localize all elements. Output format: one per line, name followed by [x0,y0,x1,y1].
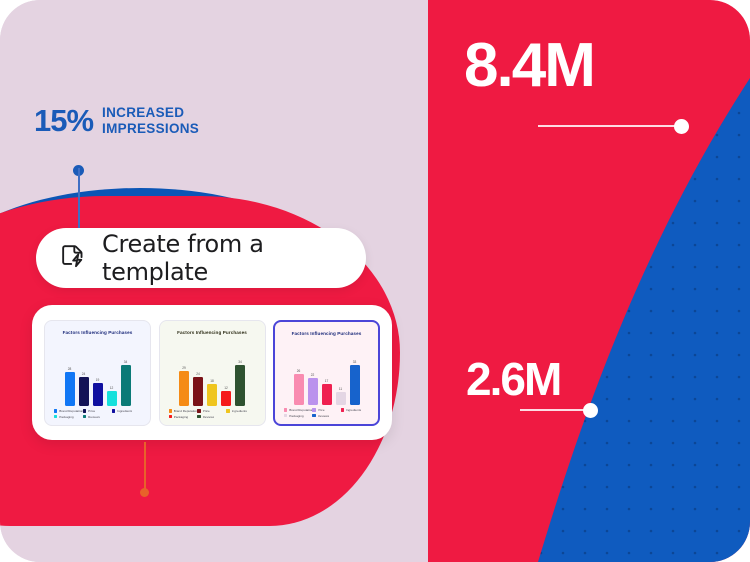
legend-label: Price [88,409,95,413]
chart-bar [107,391,117,406]
chart-bar-group: 26 [294,338,304,406]
chart-bar-group: 24 [79,337,89,407]
legend-label: Reviews [203,415,215,419]
legend-label: Ingredients [346,408,361,412]
legend-label: Brand Reputation [289,408,312,412]
stat-label: INCREASED IMPRESSIONS [102,105,199,136]
gallery-connector-dot [140,488,149,497]
legend-swatch [197,415,200,418]
chart-legend-item: Packaging [54,415,83,419]
template-card-title: Factors Influencing Purchases [50,330,145,335]
chart-legend-item: Brand Reputation [54,409,83,413]
chart-bar [93,383,103,406]
chart-bar-value: 24 [196,372,200,376]
legend-label: Packaging [289,414,303,418]
template-card[interactable]: Factors Influencing Purchases2924181234B… [159,320,266,426]
template-card-title: Factors Influencing Purchases [165,330,260,335]
chart-bar-value: 17 [325,379,329,383]
legend-label: Ingredients [232,409,247,413]
chart-legend-item: Packaging [169,415,198,419]
chart-bar-group: 34 [121,337,131,407]
chart-bar-group: 17 [322,338,332,406]
create-from-template-label: Create from a template [102,230,344,286]
legend-swatch [284,408,287,411]
template-card[interactable]: Factors Influencing Purchases2622171133B… [273,320,380,426]
legend-swatch [54,409,57,412]
chart-legend: Brand ReputationPriceIngredientsPackagin… [280,408,373,420]
stat-label-line2: IMPRESSIONS [102,121,199,137]
chart-bar [294,374,304,405]
chart-bar [193,377,203,406]
template-card-title: Factors Influencing Purchases [280,331,373,336]
legend-swatch [169,409,172,412]
legend-label: Price [203,409,210,413]
legend-swatch [112,409,115,412]
chart-legend-item: Price [83,409,112,413]
chart-bar [235,365,245,406]
legend-swatch [83,415,86,418]
chart-bar [121,365,131,406]
chart-legend-item: Reviews [83,415,112,419]
chart-bar-group: 11 [336,338,346,406]
template-card[interactable]: Factors Influencing Purchases2824191234B… [44,320,151,426]
create-from-template-button[interactable]: Create from a template [36,228,366,288]
chart-legend-item: Reviews [312,414,340,418]
chart-bar-group: 29 [179,337,189,407]
chart-legend-item: Reviews [197,415,226,419]
chart-bar-value: 33 [353,360,357,364]
legend-swatch [197,409,200,412]
stat-label-line1: INCREASED [102,105,199,121]
template-gallery: Factors Influencing Purchases2824191234B… [32,305,392,440]
legend-swatch [169,415,172,418]
chart-bar-value: 28 [68,367,72,371]
template-card-chart: 2622171133 [280,338,373,409]
legend-label: Ingredients [117,409,132,413]
chart-bar-value: 12 [110,386,114,390]
infographic-root: 15% INCREASED IMPRESSIONS Create from a … [0,0,750,562]
chart-legend-item: Ingredients [341,408,369,412]
legend-swatch [54,415,57,418]
metric-top-value: 8.4M [464,30,594,101]
legend-label: Packaging [59,415,73,419]
chart-bar-group: 22 [308,338,318,406]
legend-label: Price [318,408,325,412]
chart-bar-value: 22 [311,373,315,377]
chart-bar-value: 34 [238,360,242,364]
gallery-connector-line [144,442,146,490]
chart-bar-group: 28 [65,337,75,407]
chart-bar [65,372,75,406]
chart-legend-item: Brand Reputation [169,409,198,413]
chart-bar-group: 12 [221,337,231,407]
chart-bar-value: 26 [297,369,301,373]
chart-bar-group: 19 [93,337,103,407]
chart-bar [308,378,318,405]
chart-bar-value: 19 [96,378,100,382]
chart-legend-item: Price [197,409,226,413]
chart-bar-value: 29 [182,366,186,370]
metric-bottom-leader-line [520,409,590,411]
chart-bar-group: 24 [193,337,203,407]
stat-percent: 15% [34,105,93,136]
legend-label: Reviews [88,415,100,419]
metric-top-leader-line [538,125,678,127]
chart-legend-item: Packaging [284,414,312,418]
chart-legend-item: Price [312,408,340,412]
legend-swatch [341,408,344,411]
chart-bar [336,392,346,405]
right-panel: 8.4M 2.6M [428,0,750,562]
chart-bar-group: 12 [107,337,117,407]
chart-bar [322,384,332,405]
chart-bar-group: 34 [235,337,245,407]
chart-legend-item: Brand Reputation [284,408,312,412]
chart-bar [221,391,231,406]
chart-bar [207,384,217,406]
chart-legend-item: Ingredients [226,409,255,413]
template-lightning-icon [58,241,88,276]
chart-bar [350,365,360,405]
template-card-chart: 2924181234 [165,337,260,410]
legend-swatch [83,409,86,412]
legend-swatch [312,408,315,411]
legend-label: Packaging [174,415,188,419]
chart-bar-value: 11 [339,387,342,391]
chart-bar-value: 24 [82,372,86,376]
chart-bar [79,377,89,406]
legend-label: Brand Reputation [59,409,83,413]
stat-connector-line [78,168,80,230]
legend-label: Brand Reputation [174,409,198,413]
metric-bottom-leader-dot [583,403,598,418]
chart-bar-group: 18 [207,337,217,407]
chart-legend: Brand ReputationPriceIngredientsPackagin… [50,409,145,421]
chart-legend: Brand ReputationPriceIngredientsPackagin… [165,409,260,421]
chart-bar-value: 34 [124,360,128,364]
chart-bar-group: 33 [350,338,360,406]
stat-callout: 15% INCREASED IMPRESSIONS [34,105,199,136]
chart-legend-item: Ingredients [112,409,141,413]
legend-swatch [226,409,229,412]
template-card-chart: 2824191234 [50,337,145,410]
chart-bar-value: 12 [224,386,228,390]
chart-bar-value: 18 [210,379,214,383]
legend-swatch [284,414,287,417]
metric-bottom-value: 2.6M [466,352,560,406]
chart-bar [179,371,189,406]
left-panel: 15% INCREASED IMPRESSIONS Create from a … [0,0,428,562]
legend-swatch [312,414,315,417]
legend-label: Reviews [318,414,330,418]
metric-top-leader-dot [674,119,689,134]
